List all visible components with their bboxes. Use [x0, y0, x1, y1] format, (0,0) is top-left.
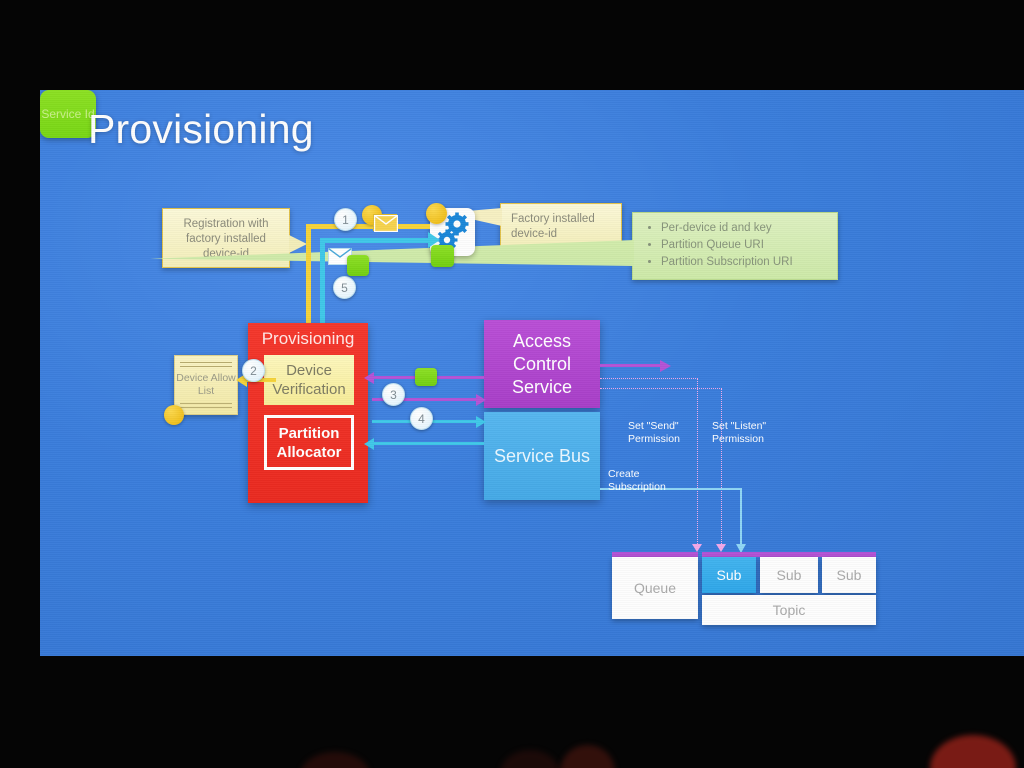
envelope-glyph: [374, 215, 398, 232]
step5-arrow-head-right: [428, 232, 440, 248]
page-title: Provisioning: [88, 106, 314, 153]
subscription-entity: Sub: [760, 557, 818, 593]
acs-to-serviceid-arrowhead: [660, 360, 671, 372]
create-subscription-label: Create Subscription: [608, 468, 680, 494]
device-yellow-dot: [426, 203, 447, 224]
arrow4-head-left: [364, 438, 374, 450]
presentation-slide: Provisioning Registration with factory i…: [40, 90, 1024, 656]
allow-list-yellow-dot: [164, 405, 184, 425]
set-listen-dotted-line: [721, 388, 722, 546]
arrow3-head-right: [476, 394, 486, 406]
set-listen-permission-label: Set "Listen" Permission: [712, 420, 782, 446]
doc-rule-line: [180, 366, 232, 367]
partition-allocator-block: Partition Allocator: [264, 415, 354, 470]
audience-silhouette: [500, 750, 560, 768]
step-badge-3: 3: [382, 383, 405, 406]
step-badge-5: 5: [333, 276, 356, 299]
provisioning-block: Provisioning: [248, 323, 368, 503]
step5-green-square: [347, 255, 369, 276]
photo-of-projected-slide: Provisioning Registration with factory i…: [0, 0, 1024, 768]
step-badge-4: 4: [410, 407, 433, 430]
callout-registration-tail: [289, 235, 307, 253]
set-send-arrowhead: [692, 544, 702, 552]
device-green-square: [431, 245, 454, 267]
provisioning-label: Provisioning: [248, 329, 368, 349]
step1-yellow-path: [306, 224, 430, 229]
device-allow-list-note: Device Allow List: [174, 355, 238, 415]
service-bus-block: Service Bus: [484, 412, 600, 500]
audience-silhouette: [930, 735, 1016, 768]
step-badge-2: 2: [242, 359, 265, 382]
arrow3-head-left: [364, 372, 374, 384]
device-verification-block: Device Verification: [264, 355, 354, 405]
step-badge-1: 1: [334, 208, 357, 231]
set-send-dotted-line: [697, 378, 698, 546]
doc-rule-line: [180, 407, 232, 408]
credential-bullet: Per-device id and key: [661, 221, 825, 236]
step1-envelope-icon: [373, 214, 397, 231]
callout-device-credentials: Per-device id and key Partition Queue UR…: [632, 212, 838, 280]
set-listen-arrowhead: [716, 544, 726, 552]
step5-cyan-path: [320, 238, 432, 243]
arrow3-green-square: [415, 368, 437, 386]
credential-bullet: Partition Subscription URI: [661, 255, 825, 270]
permission-dotted-horizontal: [600, 388, 722, 389]
arrow4-line-left: [372, 442, 484, 445]
subscription-entity: Sub: [822, 557, 876, 593]
audience-silhouette: [300, 752, 370, 768]
topic-entity: Topic: [702, 595, 876, 625]
queue-entity: Queue: [612, 557, 698, 619]
set-send-permission-label: Set "Send" Permission: [628, 420, 694, 446]
arrow4-head-right: [476, 416, 486, 428]
doc-rule-line: [180, 403, 232, 404]
acs-to-serviceid-line: [600, 364, 662, 367]
doc-rule-line: [180, 362, 232, 363]
subscription-entity-selected: Sub: [702, 557, 756, 593]
create-subscription-line-v: [740, 488, 742, 546]
credential-bullet: Partition Queue URI: [661, 238, 825, 253]
permission-dotted-horizontal: [600, 378, 698, 379]
audience-silhouette: [560, 745, 615, 768]
access-control-service-block: Access Control Service: [484, 320, 600, 408]
